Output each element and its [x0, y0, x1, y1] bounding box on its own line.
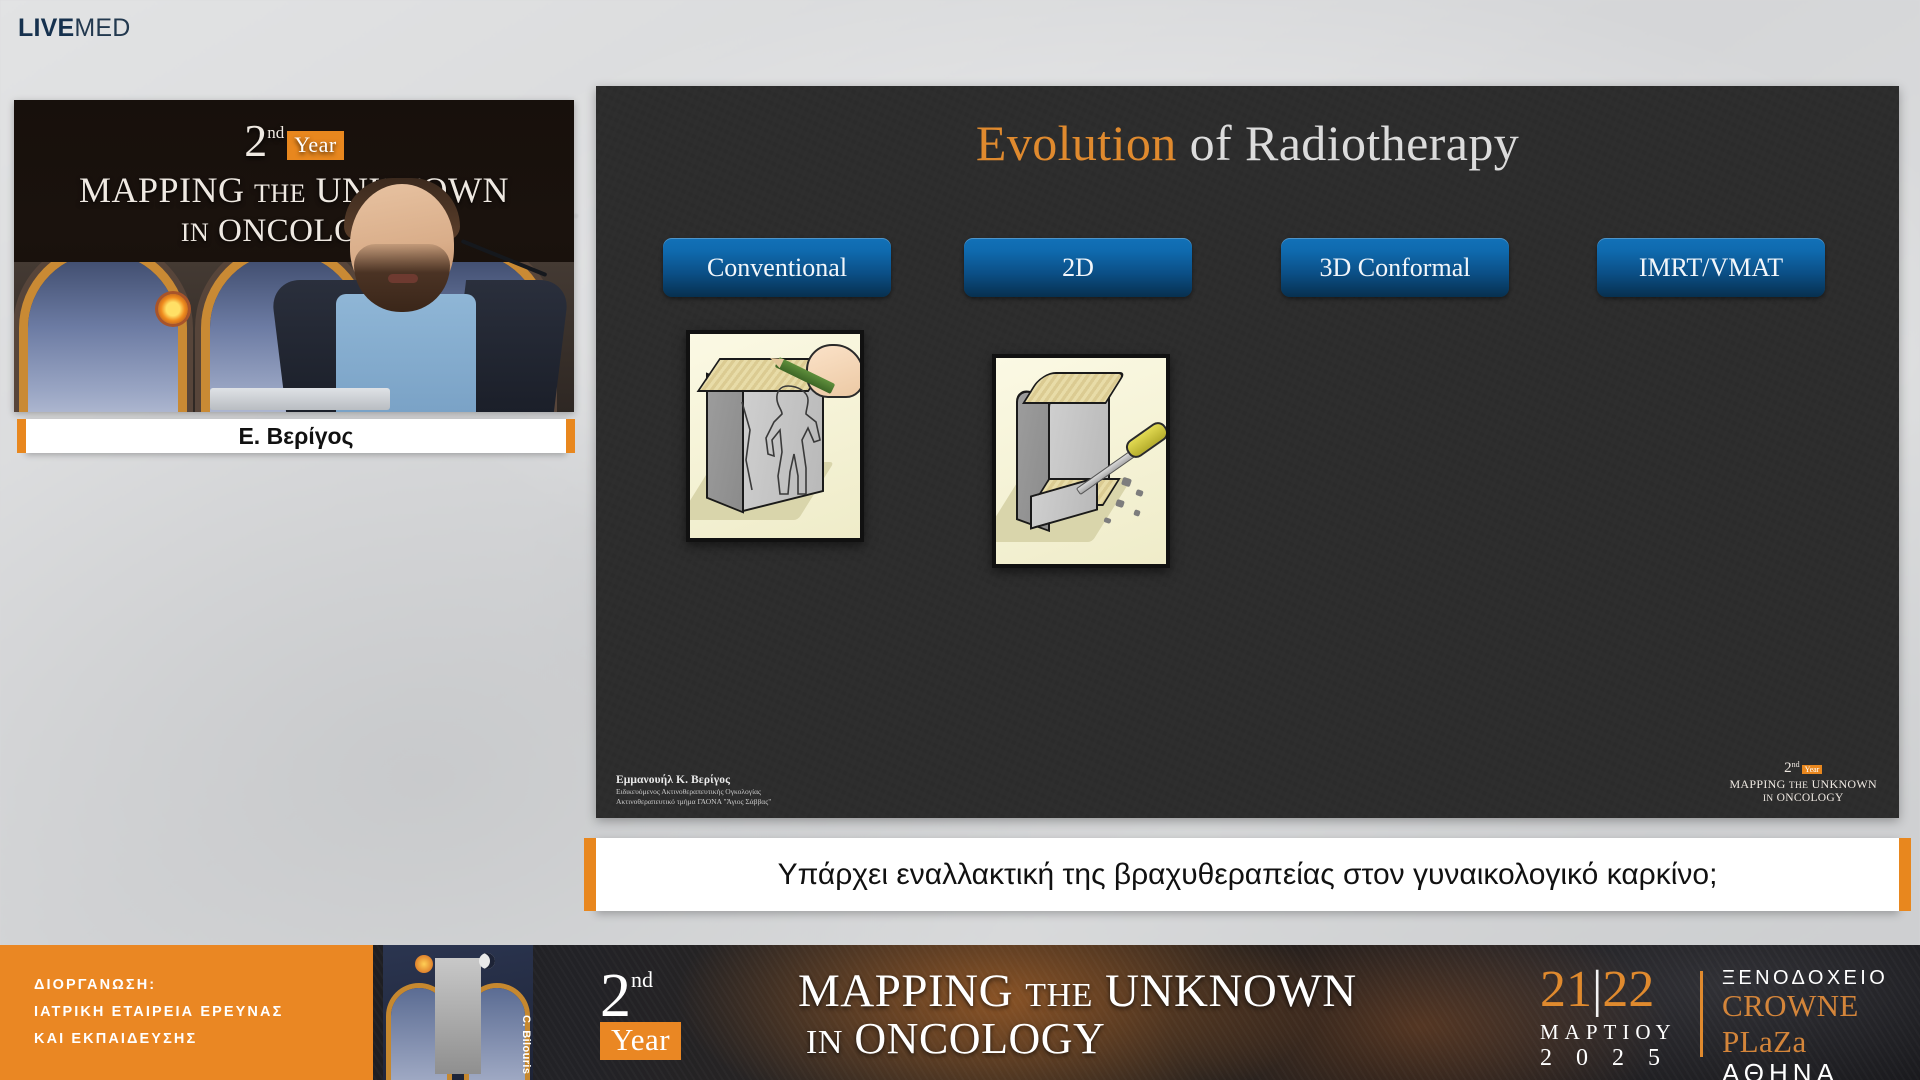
banner-year-badge: 2 nd Year	[600, 967, 681, 1060]
slide-author-name: Εμμανουήλ Κ. Βερίγος	[616, 773, 771, 787]
slide-logo-year: 2ndYear	[1729, 760, 1877, 778]
organizer-block: ΔΙΟΡΓΑΝΩΣΗ: ΙΑΤΡΙΚΗ ΕΤΑΙΡΕΙΑ ΕΡΕΥΝΑΣ ΚΑΙ…	[0, 945, 373, 1080]
slide-logo-year-label: Year	[1802, 765, 1823, 774]
organizer-line1: ΔΙΟΡΓΑΝΩΣΗ:	[34, 972, 373, 999]
banner-title-line1: MAPPING THE UNKNOWN	[798, 967, 1357, 1016]
speaker-nameplate: Ε. Βερίγος	[26, 419, 566, 453]
venue-label: ΞΕΝΟΔΟΧΕΙΟ	[1722, 967, 1920, 990]
sun-icon	[158, 294, 188, 324]
artwork-credit: C. Bilouris	[520, 1015, 532, 1074]
slide-title-rest: of Radiotherapy	[1177, 115, 1519, 171]
event-date-block: 21|22 ΜΑΡΤΙΟΥ 2 0 2 5	[1540, 965, 1677, 1072]
slide-author-sub1: Ειδικευόμενος Ακτινοθεραπευτικής Ογκολογ…	[616, 787, 771, 796]
laptop	[210, 388, 390, 410]
artwork-sun-icon	[415, 955, 433, 973]
organizer-line2: ΙΑΤΡΙΚΗ ΕΤΑΙΡΕΙΑ ΕΡΕΥΝΑΣ	[34, 999, 373, 1026]
artwork-center-column	[435, 958, 481, 1074]
slide-conference-logo: 2ndYear MAPPING THE UNKNOWN IN ONCOLOGY	[1729, 760, 1877, 806]
artwork-thumbnail: C. Bilouris	[383, 945, 533, 1080]
banner-conference-title: MAPPING THE UNKNOWN IN ONCOLOGY	[798, 967, 1357, 1063]
banner-title-l2a: IN	[806, 1024, 843, 1061]
stone-chip	[1103, 517, 1111, 524]
speaker-video[interactable]: 2ndYear MAPPING THE UNKNOWN IN ONCOLOGY	[14, 100, 574, 412]
stone-chip	[1135, 489, 1144, 497]
session-caption-text: Υπάρχει εναλλακτική της βραχυθεραπείας σ…	[596, 858, 1899, 892]
evolution-stage-buttons: Conventional 2D 3D Conformal IMRT/VMAT	[596, 238, 1899, 298]
slide-author-sub2: Ακτινοθεραπευτικό τμήμα ΓΑΟΝΑ "Άγιος Σάβ…	[616, 797, 771, 806]
banner-title-l2b: ONCOLOGY	[854, 1014, 1105, 1063]
event-days: 21|22	[1540, 965, 1677, 1016]
venue-block: ΞΕΝΟΔΟΧΕΙΟ CROWNE PLaZa ΑΘΗΝΑ	[1722, 967, 1920, 1080]
stone-chip	[1133, 509, 1141, 517]
stone-chip	[1115, 499, 1125, 508]
slide-title-highlight: Evolution	[976, 115, 1177, 171]
banner-title-l1a: MAPPING	[798, 965, 1013, 1017]
artwork-moon-icon	[479, 953, 495, 969]
event-day-separator: |	[1592, 961, 1602, 1018]
backdrop-l1a: MAPPING	[79, 170, 245, 210]
hand-icon-1	[806, 344, 860, 398]
backdrop-year: 2ndYear	[244, 114, 344, 167]
slide-logo-l2b: ONCOLOGY	[1777, 792, 1844, 804]
stage-button-imrt-vmat[interactable]: IMRT/VMAT	[1597, 238, 1825, 297]
banner-year-suffix: nd	[631, 967, 653, 993]
chisel-handle-icon	[1122, 419, 1166, 462]
arch-left-icon	[28, 262, 178, 412]
slide-author-block: Εμμανουήλ Κ. Βερίγος Ειδικευόμενος Ακτιν…	[616, 773, 771, 806]
slide-title: Evolution of Radiotherapy	[596, 114, 1899, 172]
backdrop-year-suffix: nd	[267, 123, 284, 142]
livemed-logo: LIVEMED	[18, 14, 131, 43]
event-year: 2 0 2 5	[1540, 1045, 1677, 1072]
banner-title-line2: IN ONCOLOGY	[798, 1016, 1357, 1062]
venue-name: CROWNE PLaZa	[1722, 988, 1920, 1060]
banner-year-label: Year	[600, 1022, 681, 1060]
stage-button-2d[interactable]: 2D	[964, 238, 1192, 297]
slide-logo-l1b: THE	[1789, 781, 1808, 791]
banner-divider	[1700, 971, 1703, 1057]
speaker-figure	[284, 182, 544, 412]
slide-logo-year-suffix: nd	[1792, 760, 1800, 769]
slide-logo-line1: MAPPING THE UNKNOWN	[1729, 777, 1877, 792]
illustration-canvas-2	[996, 358, 1166, 564]
brand-live: LIVE	[18, 14, 74, 42]
venue-city: ΑΘΗΝΑ	[1722, 1058, 1920, 1080]
slide-logo-l2a: IN	[1763, 794, 1774, 804]
illustration-sketching-stone	[686, 330, 864, 542]
stage-button-3d-conformal[interactable]: 3D Conformal	[1281, 238, 1509, 297]
backdrop-year-label: Year	[287, 131, 344, 160]
microphone-icon	[461, 239, 548, 277]
speaker-name: Ε. Βερίγος	[238, 423, 353, 450]
backdrop-year-number: 2	[244, 115, 267, 166]
illustration-carving-stone	[992, 354, 1170, 568]
slide-logo-l1c: UNKNOWN	[1812, 777, 1877, 791]
stage-button-conventional[interactable]: Conventional	[663, 238, 891, 297]
event-month: ΜΑΡΤΙΟΥ	[1540, 1020, 1677, 1045]
banner-title-l1b: THE	[1025, 977, 1093, 1014]
slide-logo-line2: IN ONCOLOGY	[1729, 792, 1877, 806]
carving-outline-1	[736, 380, 832, 502]
presentation-slide[interactable]: Evolution of Radiotherapy Conventional 2…	[596, 86, 1899, 818]
banner-title-l1c: UNKNOWN	[1105, 965, 1357, 1017]
organizer-line3: ΚΑΙ ΕΚΠΑΙΔΕΥΣΗΣ	[34, 1026, 373, 1053]
brand-med: MED	[74, 14, 130, 42]
session-caption-bar: Υπάρχει εναλλακτική της βραχυθεραπείας σ…	[596, 838, 1899, 911]
event-day-2: 22	[1602, 961, 1654, 1018]
banner-year-inline: 2 nd	[600, 967, 681, 1026]
backdrop-l2a: IN	[181, 218, 209, 247]
event-day-1: 21	[1540, 961, 1592, 1018]
block-top-2	[1022, 372, 1126, 404]
conference-footer-banner: ΔΙΟΡΓΑΝΩΣΗ: ΙΑΤΡΙΚΗ ΕΤΑΙΡΕΙΑ ΕΡΕΥΝΑΣ ΚΑΙ…	[0, 945, 1920, 1080]
slide-logo-year-number: 2	[1784, 760, 1792, 776]
mouth	[388, 274, 418, 283]
banner-year-number: 2	[600, 967, 631, 1026]
slide-logo-l1a: MAPPING	[1729, 777, 1785, 791]
illustration-canvas-1	[690, 334, 860, 538]
